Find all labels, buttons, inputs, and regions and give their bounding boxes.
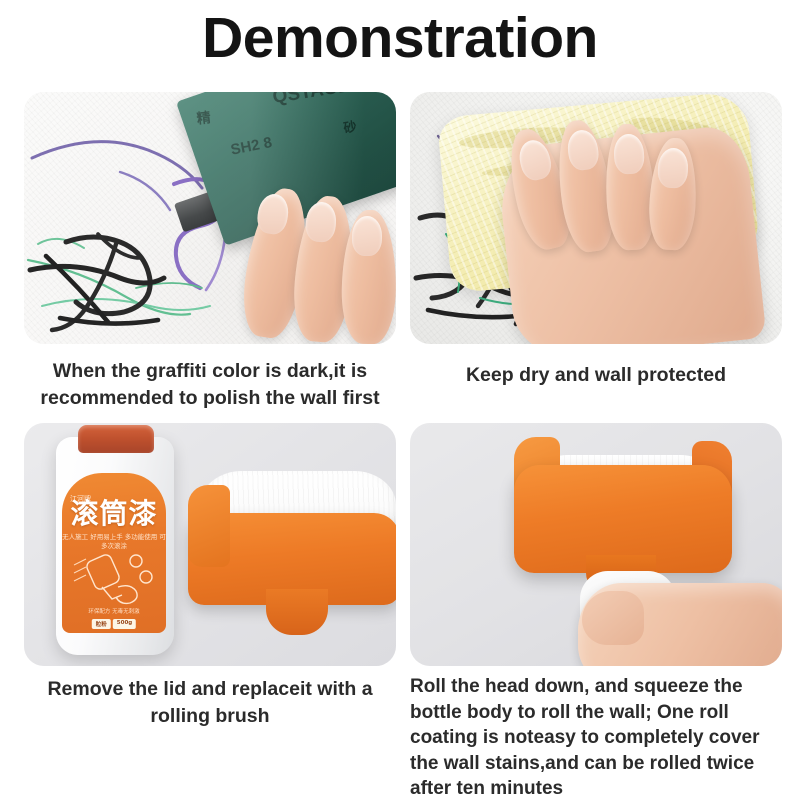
label-weight-badge: 粒粉 500g (92, 619, 136, 629)
step-caption-3: Remove the lid and replaceit with a roll… (24, 676, 396, 730)
step-caption-1: When the graffiti color is dark,it is re… (24, 358, 396, 412)
fingernail (657, 147, 689, 189)
step-card-1: QSTAO2CK SH2 8 精 砂 When the graffiti col… (24, 92, 396, 412)
photo-wiping-wall-with-yellow-cloth (410, 92, 782, 344)
roller-illustration-icon (72, 547, 156, 609)
roller-arm-left (188, 485, 230, 567)
step-caption-4: Roll the head down, and squeeze the bott… (410, 674, 782, 802)
badge-weight: 500g (113, 619, 136, 629)
photo-sanding-block-on-graffiti-wall: QSTAO2CK SH2 8 精 砂 (24, 92, 396, 344)
page-title: Demonstration (0, 8, 800, 68)
fingernail (352, 216, 383, 257)
badge-type: 粒粉 (92, 619, 111, 629)
roller-neck (266, 589, 328, 635)
label-product-name: 滚筒漆 (62, 499, 166, 529)
hand-thumb (582, 591, 644, 645)
label-footer-text: 环保配方 无毒无刺激 (62, 609, 166, 616)
step-card-4: Roll the head down, and squeeze the bott… (410, 423, 782, 802)
step-caption-2: Keep dry and wall protected (410, 362, 782, 389)
step-card-2: Keep dry and wall protected (410, 92, 782, 389)
bottle-cap (78, 425, 154, 453)
product-label: 江河牌 滚筒漆 无人施工 好用易上手 多功能使用 可多次滚涂 环保配 (62, 473, 166, 633)
step-card-3: 江河牌 滚筒漆 无人施工 好用易上手 多功能使用 可多次滚涂 环保配 (24, 423, 396, 730)
photo-rolling-wall-with-roller-head (410, 423, 782, 666)
photo-paint-bottle-and-roller-head: 江河牌 滚筒漆 无人施工 好用易上手 多功能使用 可多次滚涂 环保配 (24, 423, 396, 666)
roller-head (188, 471, 396, 657)
